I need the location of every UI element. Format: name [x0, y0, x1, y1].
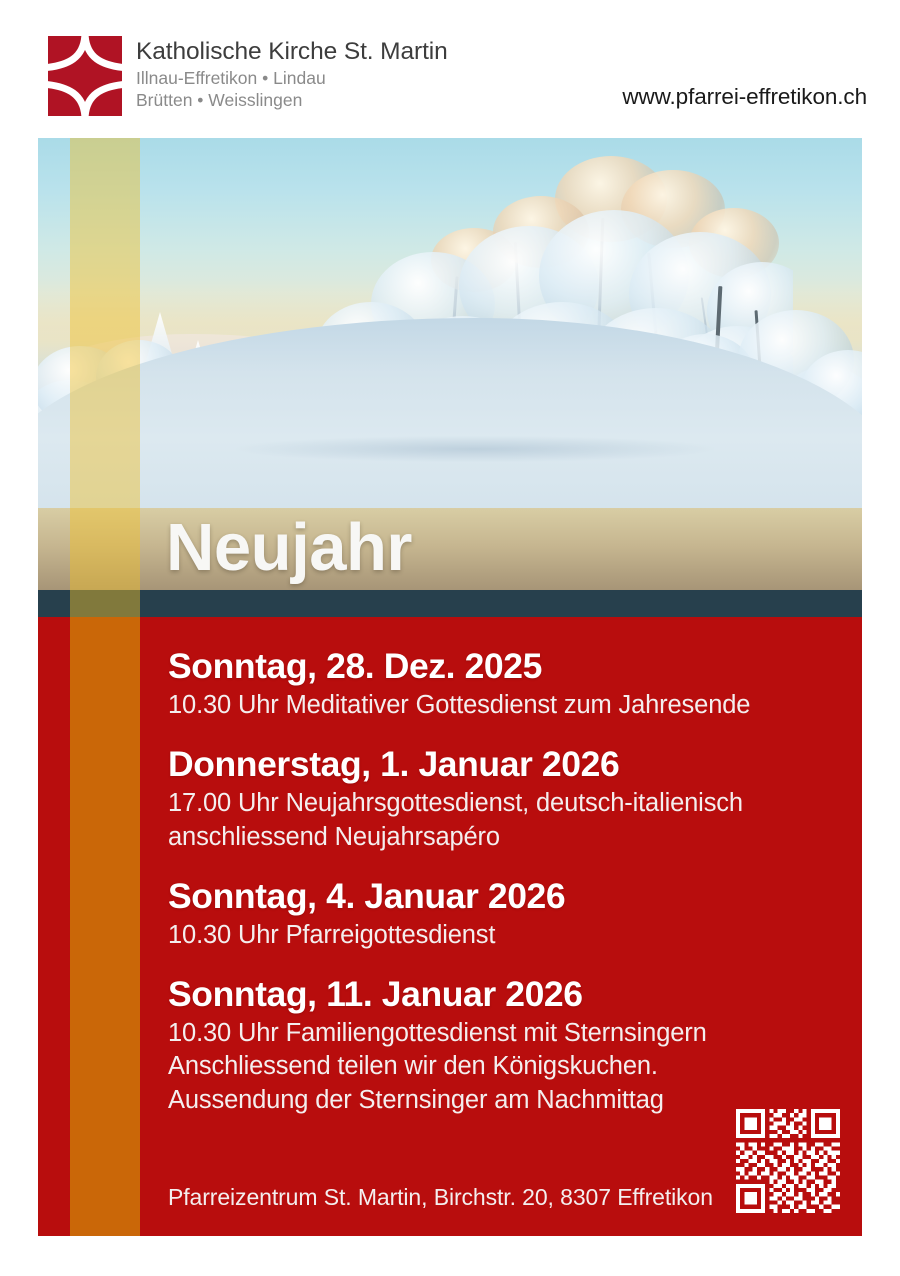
- event-title: Sonntag, 28. Dez. 2025: [168, 646, 862, 687]
- venue-address: Pfarreizentrum St. Martin, Birchstr. 20,…: [168, 1184, 713, 1211]
- event-detail-lines: 10.30 Uhr Pfarreigottesdienst: [168, 919, 862, 952]
- organization-title: Katholische Kirche St. Martin: [136, 38, 448, 67]
- church-cross-logo-icon: [48, 36, 122, 116]
- event-title: Sonntag, 11. Januar 2026: [168, 974, 862, 1015]
- title-band: [38, 508, 862, 590]
- navy-divider: [38, 590, 862, 617]
- event-detail-lines: 10.30 Uhr Meditativer Gottesdienst zum J…: [168, 689, 862, 722]
- event-line: 10.30 Uhr Pfarreigottesdienst: [168, 919, 862, 952]
- event-item: Sonntag, 11. Januar 2026 10.30 Uhr Famil…: [168, 974, 862, 1117]
- event-line: anschliessend Neujahrsapéro: [168, 821, 862, 854]
- snow-shadow: [236, 436, 714, 462]
- organization-subtitle-line-2: Brütten • Weisslingen: [136, 89, 448, 111]
- event-detail-lines: 10.30 Uhr Familiengottesdienst mit Stern…: [168, 1017, 862, 1116]
- event-line: Anschliessend teilen wir den Königskuche…: [168, 1050, 862, 1083]
- event-line: 10.30 Uhr Familiengottesdienst mit Stern…: [168, 1017, 862, 1050]
- event-item: Donnerstag, 1. Januar 2026 17.00 Uhr Neu…: [168, 744, 862, 853]
- event-title: Donnerstag, 1. Januar 2026: [168, 744, 862, 785]
- event-title: Sonntag, 4. Januar 2026: [168, 876, 862, 917]
- decorative-vertical-stripe-orange: [70, 617, 140, 1236]
- qr-code-graphic: [736, 1109, 840, 1213]
- event-detail-lines: 17.00 Uhr Neujahrsgottesdienst, deutsch-…: [168, 787, 862, 853]
- qr-code-icon[interactable]: [736, 1109, 840, 1213]
- website-url[interactable]: www.pfarrei-effretikon.ch: [622, 84, 867, 110]
- page-title: Neujahr: [166, 514, 412, 581]
- poster-header: Katholische Kirche St. Martin Illnau-Eff…: [0, 0, 900, 135]
- poster-content-block: Neujahr Sonntag, 28. Dez. 2025 10.30 Uhr…: [38, 138, 862, 1236]
- event-line: 10.30 Uhr Meditativer Gottesdienst zum J…: [168, 689, 862, 722]
- poster-root: Katholische Kirche St. Martin Illnau-Eff…: [0, 0, 900, 1276]
- organization-logo-block: Katholische Kirche St. Martin Illnau-Eff…: [48, 36, 448, 116]
- event-item: Sonntag, 28. Dez. 2025 10.30 Uhr Meditat…: [168, 646, 862, 722]
- events-list: Sonntag, 28. Dez. 2025 10.30 Uhr Meditat…: [168, 646, 862, 1117]
- organization-name-block: Katholische Kirche St. Martin Illnau-Eff…: [136, 36, 448, 112]
- organization-subtitle-line-1: Illnau-Effretikon • Lindau: [136, 67, 448, 89]
- event-line: 17.00 Uhr Neujahrsgottesdienst, deutsch-…: [168, 787, 862, 820]
- winter-photo: [38, 138, 862, 508]
- event-item: Sonntag, 4. Januar 2026 10.30 Uhr Pfarre…: [168, 876, 862, 952]
